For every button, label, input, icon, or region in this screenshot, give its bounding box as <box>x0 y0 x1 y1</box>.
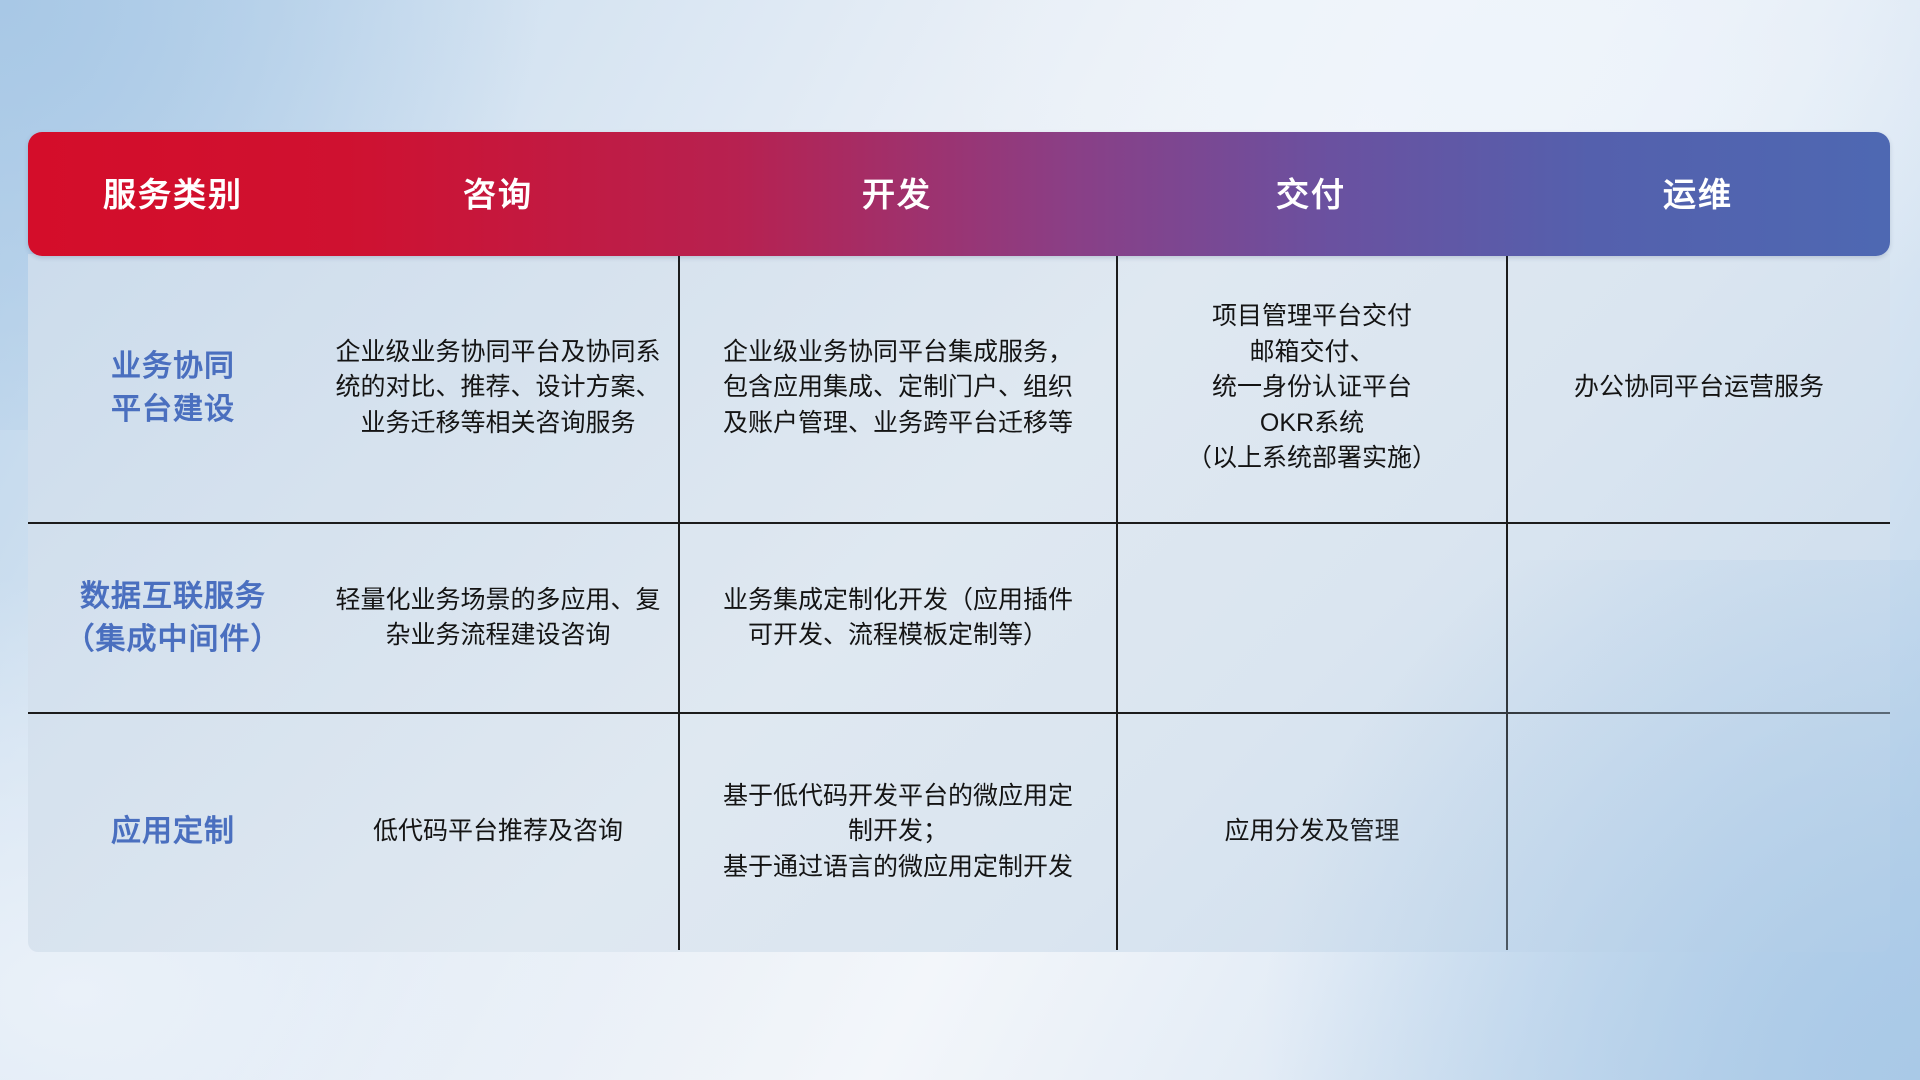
cell-development: 基于低代码开发平台的微应用定 制开发； 基于通过语言的微应用定制开发 <box>678 714 1116 950</box>
cell-development: 业务集成定制化开发（应用插件 可开发、流程模板定制等） <box>678 524 1116 712</box>
cell-consulting: 企业级业务协同平台及协同系 统的对比、推荐、设计方案、 业务迁移等相关咨询服务 <box>318 254 678 522</box>
table-header-row: 服务类别 咨询 开发 交付 运维 <box>28 132 1890 256</box>
table-row: 应用定制 低代码平台推荐及咨询 基于低代码开发平台的微应用定 制开发； 基于通过… <box>28 712 1890 950</box>
cell-operations <box>1506 524 1890 712</box>
cell-delivery <box>1116 524 1506 712</box>
cell-category: 应用定制 <box>28 714 318 950</box>
cell-consulting: 低代码平台推荐及咨询 <box>318 714 678 950</box>
cell-category: 业务协同 平台建设 <box>28 254 318 522</box>
column-header-operations: 运维 <box>1506 178 1890 211</box>
column-header-delivery: 交付 <box>1116 178 1506 211</box>
cell-operations: 办公协同平台运营服务 <box>1506 254 1890 522</box>
cell-delivery: 项目管理平台交付 邮箱交付、 统一身份认证平台 OKR系统 （以上系统部署实施） <box>1116 254 1506 522</box>
column-header-development: 开发 <box>678 178 1116 211</box>
table-body: 业务协同 平台建设 企业级业务协同平台及协同系 统的对比、推荐、设计方案、 业务… <box>28 254 1890 952</box>
table-row: 业务协同 平台建设 企业级业务协同平台及协同系 统的对比、推荐、设计方案、 业务… <box>28 254 1890 522</box>
table-row: 数据互联服务 （集成中间件） 轻量化业务场景的多应用、复 杂业务流程建设咨询 业… <box>28 522 1890 712</box>
service-matrix-table: 服务类别 咨询 开发 交付 运维 业务协同 平台建设 企业级业务协同平台及协同系… <box>28 132 1890 952</box>
cell-operations <box>1506 714 1890 950</box>
cell-consulting: 轻量化业务场景的多应用、复 杂业务流程建设咨询 <box>318 524 678 712</box>
cell-category: 数据互联服务 （集成中间件） <box>28 524 318 712</box>
cell-development: 企业级业务协同平台集成服务， 包含应用集成、定制门户、组织 及账户管理、业务跨平… <box>678 254 1116 522</box>
slide-canvas: 服务类别 咨询 开发 交付 运维 业务协同 平台建设 企业级业务协同平台及协同系… <box>0 0 1920 1080</box>
column-header-category: 服务类别 <box>28 178 318 211</box>
cell-delivery: 应用分发及管理 <box>1116 714 1506 950</box>
column-header-consulting: 咨询 <box>318 178 678 211</box>
